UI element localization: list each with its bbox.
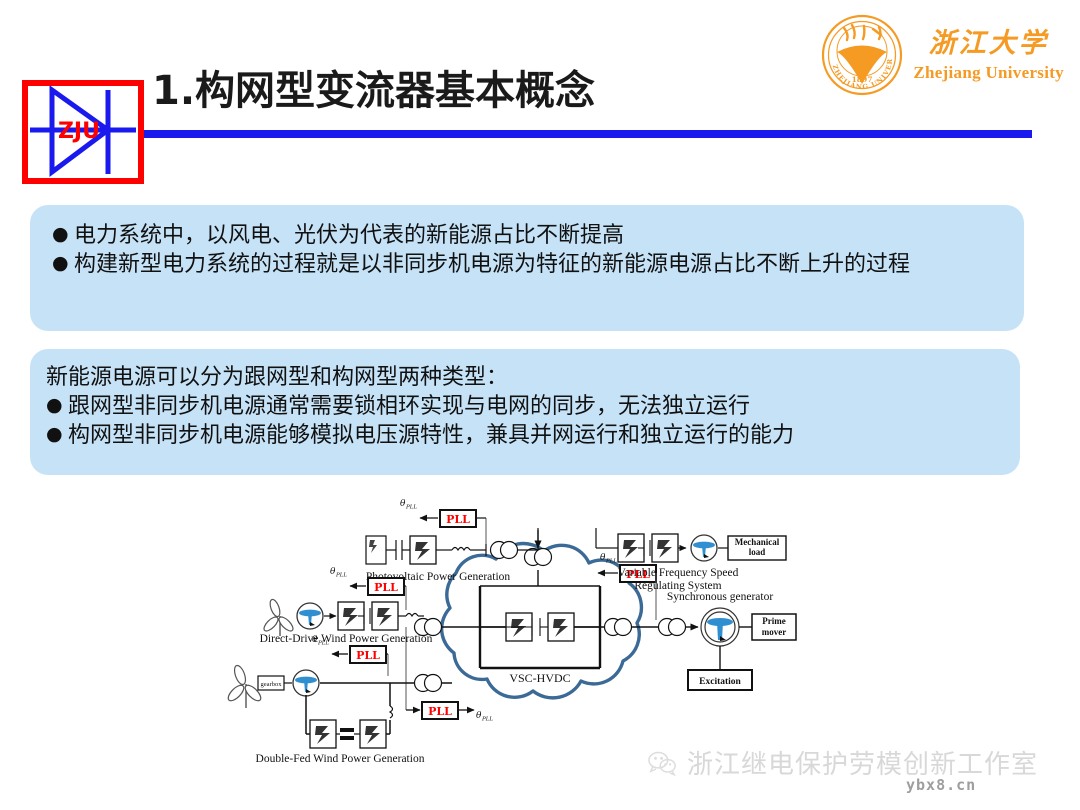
bullet-text: 跟网型非同步机电源通常需要锁相环实现与电网的同步，无法独立运行 <box>68 392 1010 421</box>
mechanical-load-label-2: load <box>749 547 766 557</box>
emblem-text-block: 浙江大学 Zhejiang University <box>913 30 1064 81</box>
prime-mover-label-2: mover <box>762 627 787 637</box>
mechanical-load-label-1: Mechanical <box>735 537 780 547</box>
emblem-seal-icon: 1897 ZHEJIANG UNIVERSITY <box>821 14 903 96</box>
vsc-hvdc-label: VSC-HVDC <box>509 671 570 685</box>
bullet-marker-icon: ● <box>46 392 68 420</box>
bullet-text: 构网型非同步机电源能够模拟电压源特性，兼具并网运行和独立运行的能力 <box>68 421 1010 450</box>
content-panel-bottom: 新能源电源可以分为跟网型和构网型两种类型： ● 跟网型非同步机电源通常需要锁相环… <box>30 349 1020 475</box>
watermark-text: 浙江继电保护劳模创新工作室 <box>687 744 1038 781</box>
excitation-label: Excitation <box>699 677 741 687</box>
sync-generator-label: Synchronous generator <box>667 591 774 603</box>
bullet-marker-icon: ● <box>46 421 68 449</box>
header-rule <box>36 130 1032 138</box>
bullet-item: ● 构建新型电力系统的过程就是以非同步机电源为特征的新能源电源占比不断上升的过程 <box>52 250 1010 279</box>
bullet-text: 构建新型电力系统的过程就是以非同步机电源为特征的新能源电源占比不断上升的过程 <box>74 250 1010 279</box>
power-system-diagram: PLL θ PLL VS <box>200 490 840 780</box>
bullet-marker-icon: ● <box>52 221 74 249</box>
gearbox-label: gearbox <box>261 681 283 688</box>
wind-turbine-icon <box>262 598 295 636</box>
bullet-marker-icon: ● <box>52 250 74 278</box>
bullet-item: ● 构网型非同步机电源能够模拟电压源特性，兼具并网运行和独立运行的能力 <box>46 421 1010 450</box>
direct-drive-label: Direct-Drive Wind Power Generation <box>260 633 433 645</box>
emblem-chinese-name: 浙江大学 <box>929 30 1049 57</box>
prime-mover-label-1: Prime <box>762 616 785 626</box>
content-panel-top: ● 电力系统中，以风电、光伏为代表的新能源占比不断提高 ● 构建新型电力系统的过… <box>30 205 1024 331</box>
university-emblem: 1897 ZHEJIANG UNIVERSITY 浙江大学 Zhejiang U… <box>821 14 1064 96</box>
page-title: 1.构网型变流器基本概念 <box>152 58 595 116</box>
vfd-label-1: Variable Frequency Speed <box>618 567 739 579</box>
svg-text:ZJU: ZJU <box>58 119 100 144</box>
zju-diode-symbol: ZJU <box>28 86 138 178</box>
double-fed-label: Double-Fed Wind Power Generation <box>256 753 425 765</box>
bullet-text: 电力系统中，以风电、光伏为代表的新能源占比不断提高 <box>74 221 1010 250</box>
bullet-item: ● 跟网型非同步机电源通常需要锁相环实现与电网的同步，无法独立运行 <box>46 392 1010 421</box>
bullet-item: ● 电力系统中，以风电、光伏为代表的新能源占比不断提高 <box>52 221 1010 250</box>
emblem-english-name: Zhejiang University <box>913 64 1064 81</box>
slide-root: ZJU 1.构网型变流器基本概念 1897 ZHEJIANG UNIVERSIT… <box>0 0 1080 810</box>
watermark: 浙江继电保护劳模创新工作室 <box>648 744 1038 781</box>
zju-logo-mark: ZJU <box>22 80 144 184</box>
wechat-icon <box>648 750 678 776</box>
watermark-url: ybx8.cn <box>906 776 976 794</box>
panel-lead-text: 新能源电源可以分为跟网型和构网型两种类型： <box>46 363 1010 392</box>
